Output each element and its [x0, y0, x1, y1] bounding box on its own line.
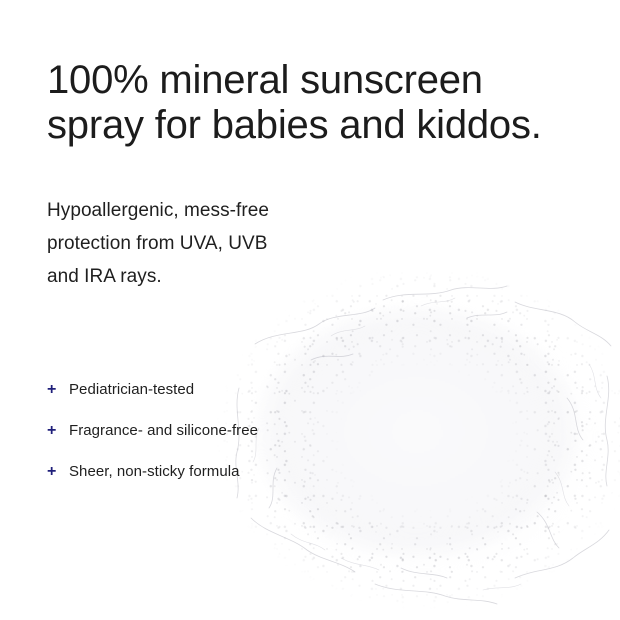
cream-speckle-grain — [215, 272, 620, 617]
cream-streaks — [215, 272, 620, 617]
feature-label: Fragrance- and silicone-free — [69, 423, 258, 438]
page-title: 100% mineral sunscreen spray for babies … — [47, 58, 577, 148]
cream-haze — [195, 255, 620, 620]
list-item: + Pediatrician-tested — [47, 382, 258, 423]
product-description: Hypoallergenic, mess-free protection fro… — [47, 194, 377, 293]
feature-list: + Pediatrician-tested + Fragrance- and s… — [47, 382, 258, 505]
list-item: + Fragrance- and silicone-free — [47, 423, 258, 464]
plus-icon: + — [47, 423, 69, 439]
list-item: + Sheer, non-sticky formula — [47, 464, 258, 505]
cream-body — [215, 275, 620, 615]
feature-label: Pediatrician-tested — [69, 382, 194, 397]
product-feature-card: 100% mineral sunscreen spray for babies … — [0, 0, 620, 620]
plus-icon: + — [47, 382, 69, 398]
plus-icon: + — [47, 464, 69, 480]
feature-label: Sheer, non-sticky formula — [69, 464, 240, 479]
